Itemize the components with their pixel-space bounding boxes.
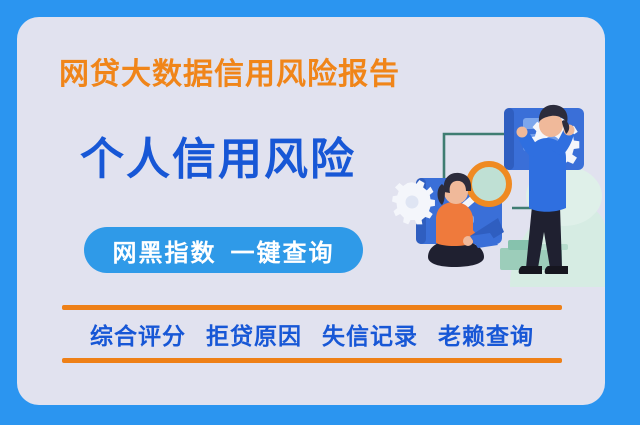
feature-item-0[interactable]: 综合评分 [90,317,186,351]
cta-label: 网黑指数一键查询 [113,233,335,268]
promo-banner: 网贷大数据信用风险报告 个人信用风险 网黑指数一键查询 综合评分 拒贷原因 失信… [0,0,640,425]
feature-item-1[interactable]: 拒贷原因 [206,317,302,351]
credit-report-illustration [392,72,605,287]
cta-label-left: 网黑指数 [113,240,217,267]
banner-card: 网贷大数据信用风险报告 个人信用风险 网黑指数一键查询 综合评分 拒贷原因 失信… [17,17,605,405]
page-title: 网贷大数据信用风险报告 [59,60,400,90]
query-cta-button[interactable]: 网黑指数一键查询 [84,227,363,273]
feature-item-3[interactable]: 老赖查询 [438,317,534,351]
feature-item-2[interactable]: 失信记录 [322,317,418,351]
cta-label-right: 一键查询 [231,240,335,267]
feature-list: 综合评分 拒贷原因 失信记录 老赖查询 [62,315,562,353]
divider-top [62,305,562,310]
divider-bottom [62,358,562,363]
subtitle: 个人信用风险 [80,138,356,182]
